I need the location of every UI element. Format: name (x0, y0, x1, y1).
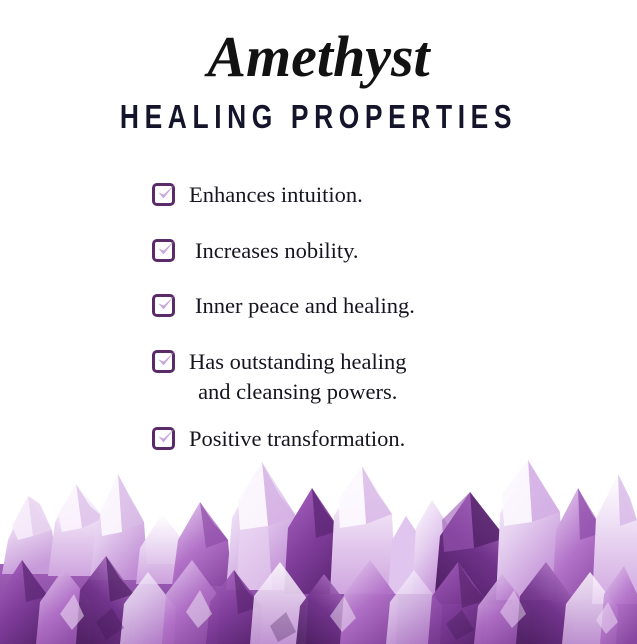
checked-checkbox-icon (152, 239, 175, 262)
checked-checkbox-icon (152, 183, 175, 206)
healing-properties-list: Enhances intuition. Increases nobility. … (0, 180, 637, 480)
page-subtitle: HEALING PROPERTIES (64, 100, 574, 133)
list-item-label: Inner peace and healing. (195, 291, 415, 321)
amethyst-crystal-cluster-image (0, 444, 637, 644)
list-item: Inner peace and healing. (152, 291, 637, 321)
list-item: Has outstanding healing and cleansing po… (152, 347, 637, 406)
checkmark-glyph (154, 347, 180, 373)
list-item: Enhances intuition. (152, 180, 637, 210)
list-item-label: Has outstanding healing and cleansing po… (189, 347, 406, 406)
crystal-cluster-svg (0, 444, 637, 644)
checkmark-glyph (154, 291, 180, 317)
list-item-label: Increases nobility. (195, 236, 359, 266)
amethyst-healing-properties-poster: Amethyst HEALING PROPERTIES Enhances int… (0, 0, 637, 644)
poster-header: Amethyst HEALING PROPERTIES (0, 0, 637, 133)
checkmark-glyph (154, 236, 180, 262)
checkmark-glyph (154, 180, 180, 206)
list-item-label: Enhances intuition. (189, 180, 363, 210)
checked-checkbox-icon (152, 350, 175, 373)
list-item: Increases nobility. (152, 236, 637, 266)
checked-checkbox-icon (152, 294, 175, 317)
page-title: Amethyst (0, 28, 637, 86)
